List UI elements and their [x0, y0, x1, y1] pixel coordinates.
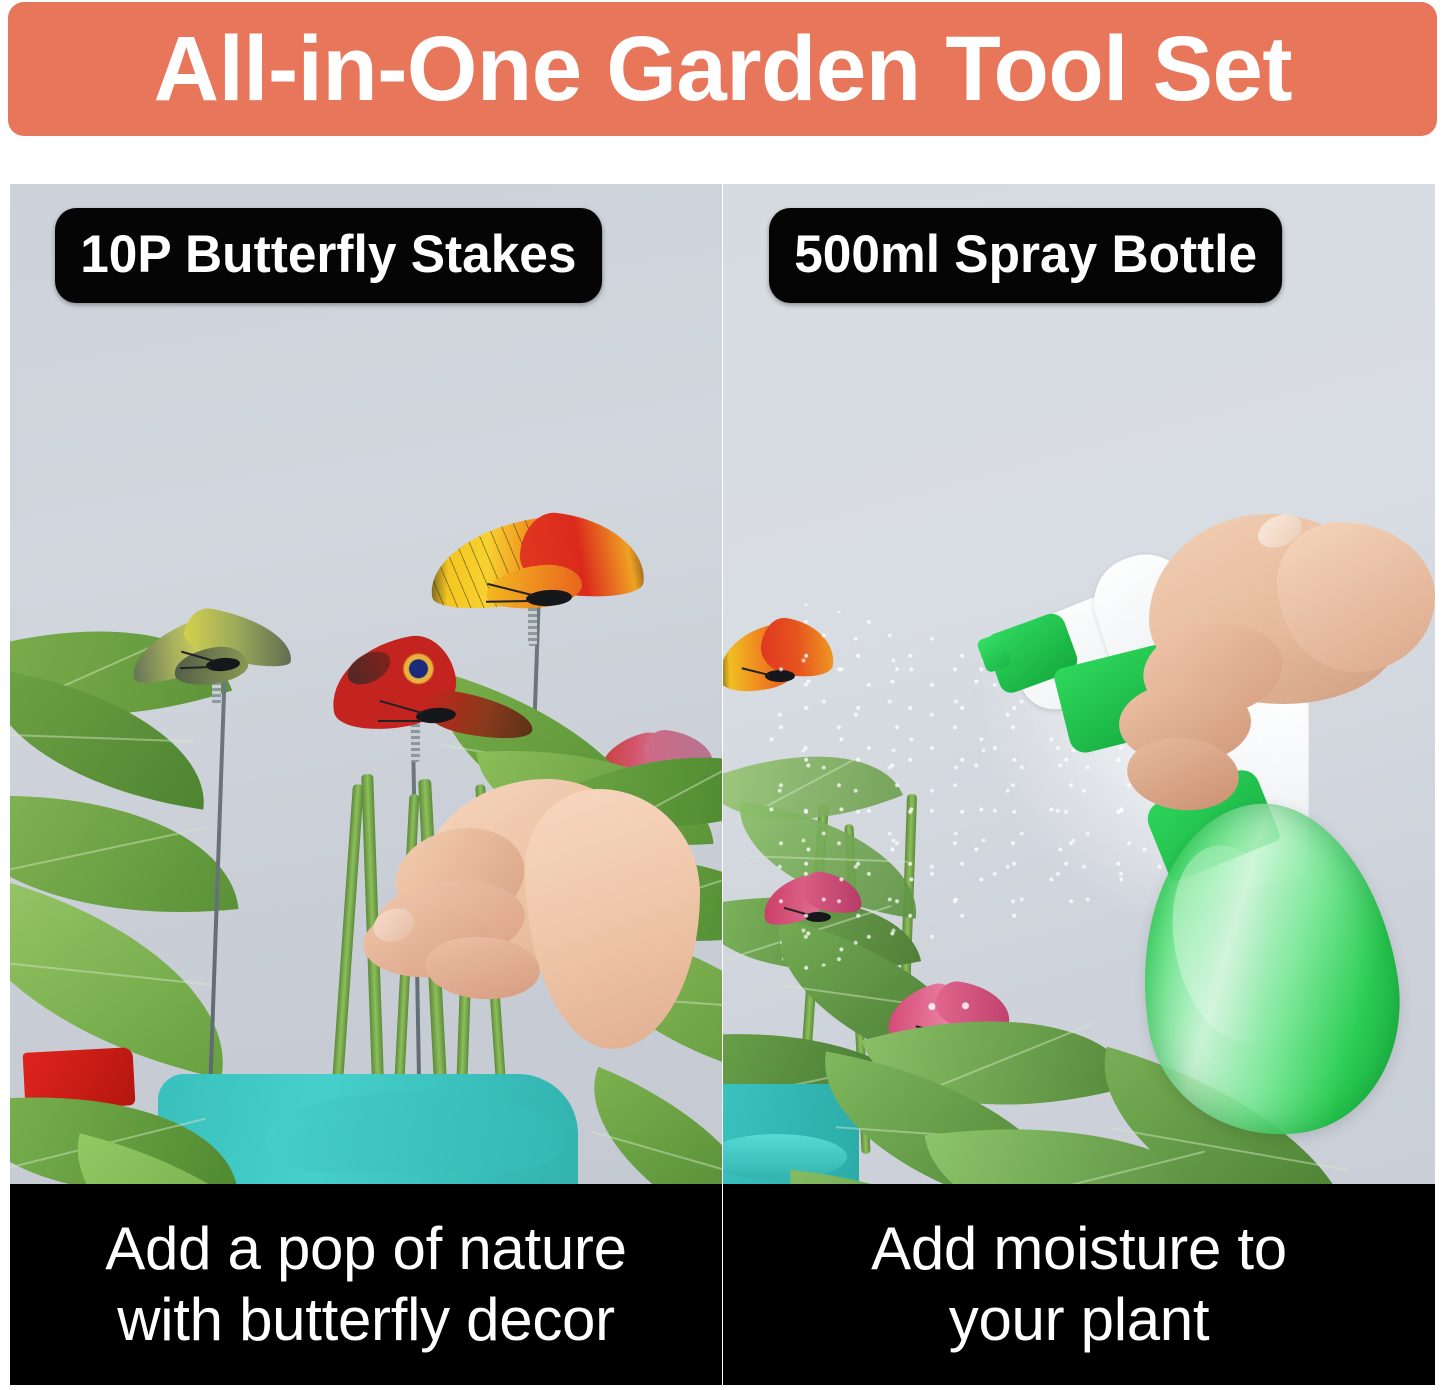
caption-line-2: your plant	[949, 1285, 1210, 1355]
hand	[1093, 514, 1433, 854]
photo-butterfly-stakes	[10, 184, 722, 1184]
caption-spray-bottle: Add moisture to your plant	[723, 1184, 1435, 1385]
butterfly-decor-red-peacock	[330, 634, 540, 764]
caption-butterfly-stakes: Add a pop of nature with butterfly decor	[10, 1184, 722, 1385]
hand	[365, 769, 695, 1069]
product-infographic: All-in-One Garden Tool Set	[0, 0, 1445, 1390]
caption-line-1: Add moisture to	[871, 1214, 1287, 1284]
photo-spray-bottle	[723, 184, 1435, 1184]
leaf	[558, 1067, 722, 1184]
panel-spray-bottle: 500ml Spray Bottle Add moisture to your …	[723, 184, 1435, 1385]
caption-line-1: Add a pop of nature	[105, 1214, 626, 1284]
badge-butterfly-stakes: 10P Butterfly Stakes	[55, 208, 602, 303]
panel-butterfly-stakes: 10P Butterfly Stakes Add a pop of nature…	[10, 184, 722, 1385]
caption-line-2: with butterfly decor	[117, 1285, 615, 1355]
header-banner: All-in-One Garden Tool Set	[8, 2, 1437, 136]
butterfly-decor-orange-red	[428, 514, 648, 639]
badge-spray-bottle: 500ml Spray Bottle	[769, 208, 1282, 303]
page-title: All-in-One Garden Tool Set	[153, 23, 1291, 115]
butterfly-decor-yellow-green	[128, 614, 308, 724]
